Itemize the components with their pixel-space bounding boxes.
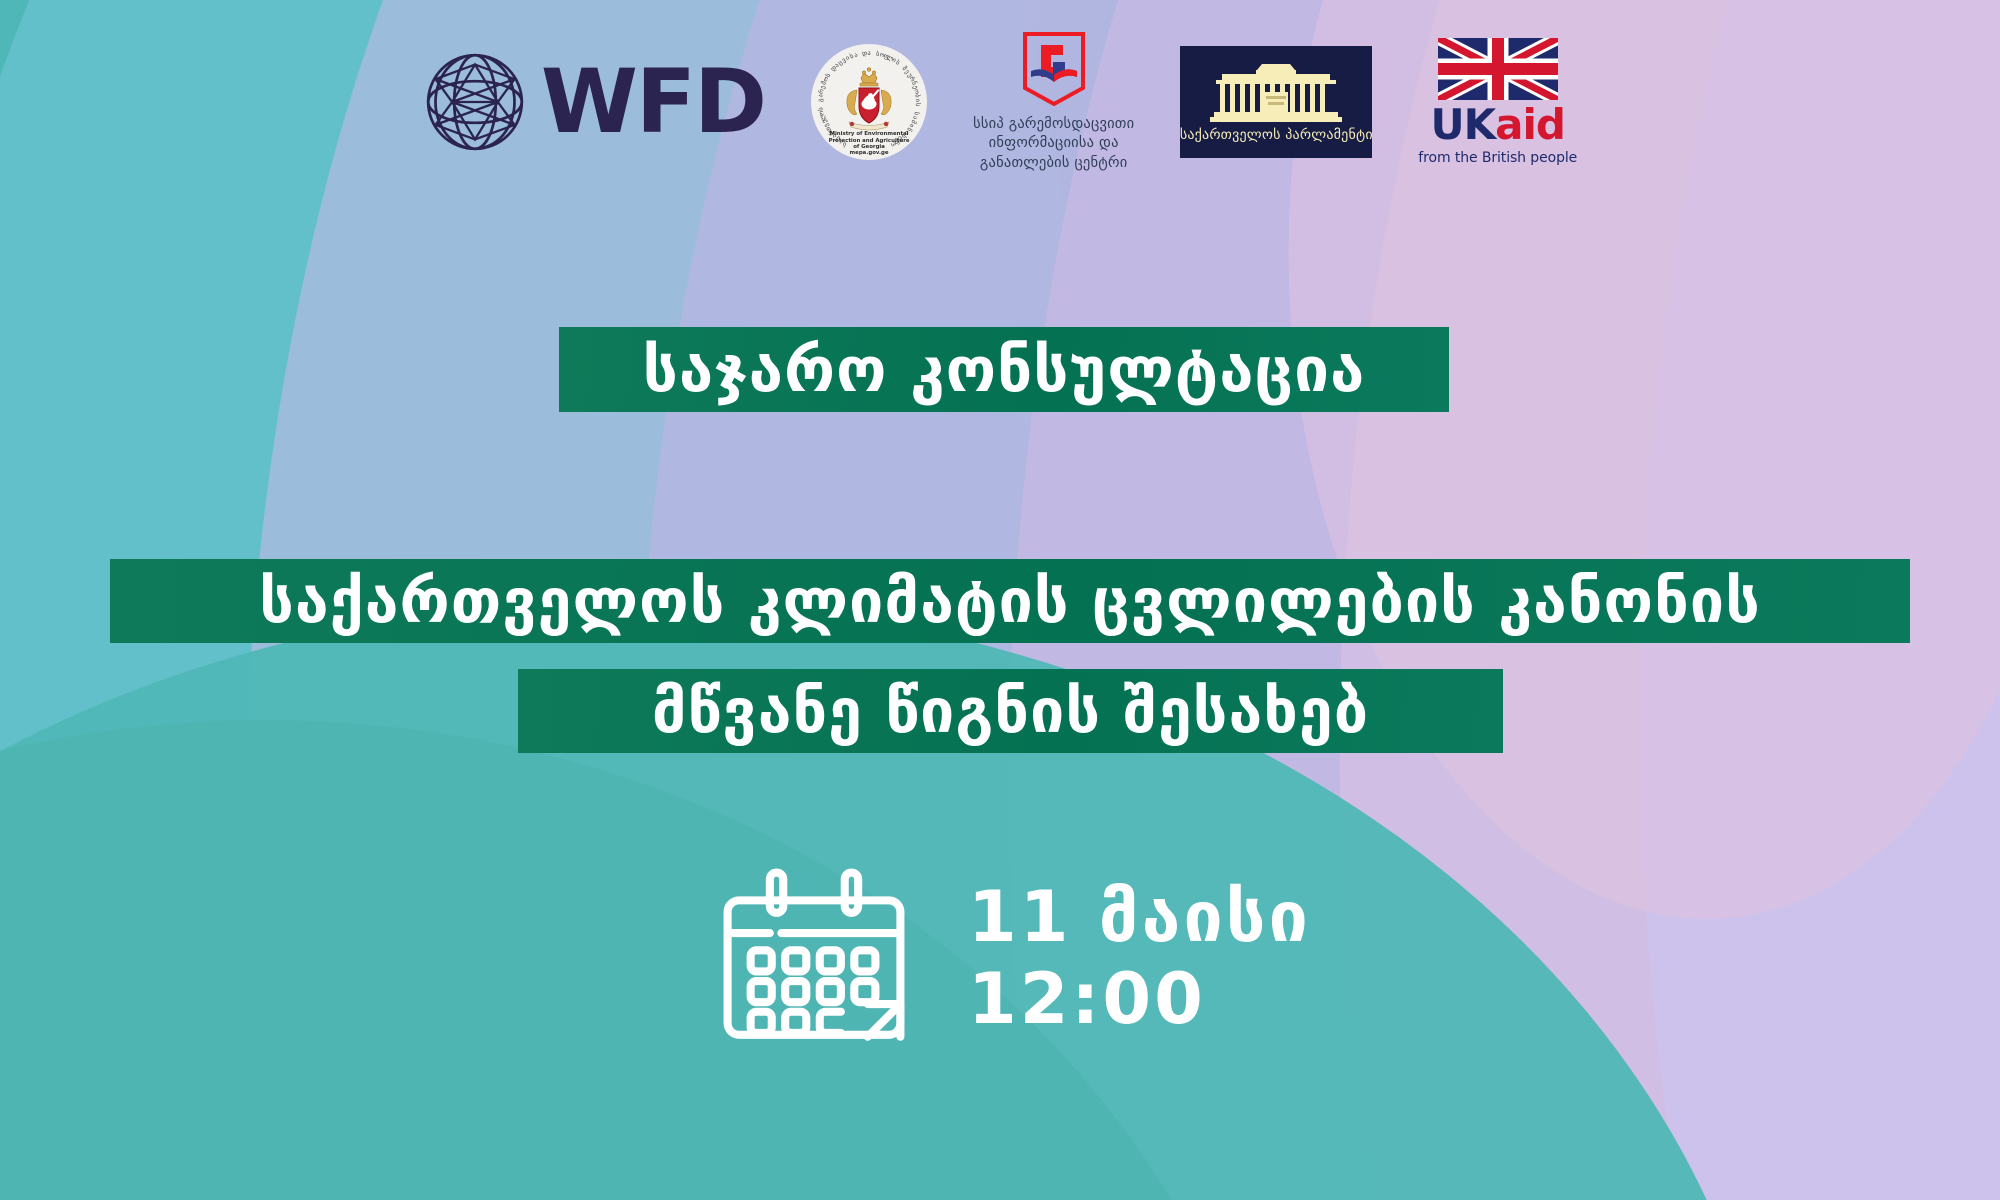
event-time-text: 12:00 bbox=[968, 959, 1311, 1040]
ukaid-aid-text: aid bbox=[1495, 100, 1565, 149]
event-date-text: 11 მაისი bbox=[968, 877, 1311, 958]
wfd-wordmark: WFD bbox=[541, 58, 765, 146]
calendar-icon bbox=[718, 862, 910, 1054]
logo-wfd: WFD bbox=[423, 50, 765, 154]
seal-caption-line-2: Protection and Agriculture bbox=[811, 138, 927, 144]
ukaid-tagline: from the British people bbox=[1418, 150, 1577, 166]
globe-icon bbox=[423, 50, 527, 154]
seal-caption-line-4: mepa.gov.ge bbox=[811, 150, 927, 156]
parliament-label: საქართველოს პარლამენტი bbox=[1180, 127, 1373, 143]
ukaid-wordmark: UKaid bbox=[1430, 105, 1564, 145]
headline-title-text-1: საქართველოს კლიმატის ცვლილების კანონის bbox=[259, 571, 1761, 632]
parliament-building-icon bbox=[1206, 62, 1346, 124]
logo-ukaid: UKaid from the British people bbox=[1418, 38, 1577, 166]
headline-title-banner-1: საქართველოს კლიმატის ცვლილების კანონის bbox=[110, 559, 1910, 643]
headline-kicker-text: საჯარო კონსულტაცია bbox=[643, 339, 1366, 401]
logo-environment-info-centre: სსიპ გარემოსდაცვითი ინფორმაციისა და განა… bbox=[973, 31, 1134, 174]
georgia-coat-of-arms-icon: საქართველოს გარემოს დაცვისა და სოფლის მე… bbox=[811, 44, 927, 160]
eic-label: სსიპ გარემოსდაცვითი ინფორმაციისა და განა… bbox=[973, 115, 1134, 174]
headline-kicker-banner: საჯარო კონსულტაცია bbox=[559, 327, 1449, 412]
eic-label-line-2: ინფორმაციისა და bbox=[973, 134, 1134, 154]
ukaid-uk-text: UK bbox=[1430, 100, 1495, 149]
eic-label-line-1: სსიპ გარემოსდაცვითი bbox=[973, 115, 1134, 135]
logo-ministry-of-environment: საქართველოს გარემოს დაცვისა და სოფლის მე… bbox=[811, 44, 927, 160]
eic-label-line-3: განათლების ცენტრი bbox=[973, 154, 1134, 174]
event-date-block: 11 მაისი 12:00 bbox=[718, 862, 1311, 1054]
event-date-lines: 11 მაისი 12:00 bbox=[968, 877, 1311, 1040]
headline-title-text-2: მწვანე წიგნის შესახებ bbox=[652, 681, 1369, 742]
union-jack-flag-icon bbox=[1438, 38, 1558, 100]
logo-strip: WFD bbox=[0, 22, 2000, 182]
logo-parliament-of-georgia: საქართველოს პარლამენტი bbox=[1180, 46, 1372, 158]
seal-caption: Ministry of Environmental Protection and… bbox=[811, 131, 927, 156]
headline-title-banner-2: მწვანე წიგნის შესახებ bbox=[518, 669, 1503, 753]
poster-canvas: WFD bbox=[0, 0, 2000, 1200]
eiec-book-emblem-icon bbox=[1021, 31, 1087, 107]
